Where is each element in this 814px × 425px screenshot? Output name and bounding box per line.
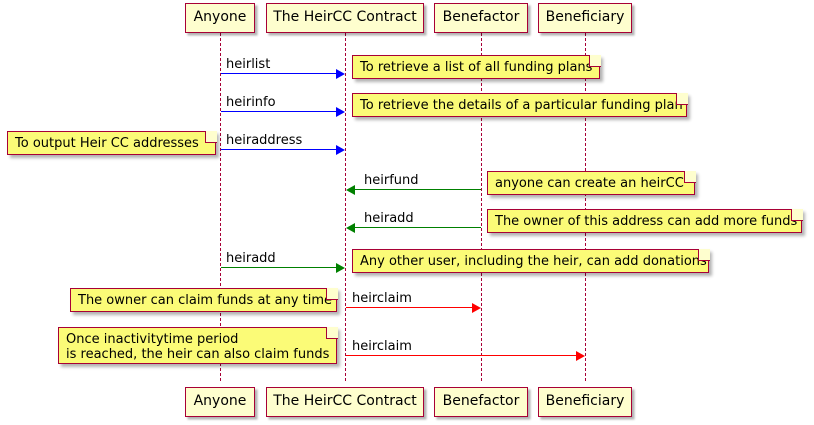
message-arrowhead-heirclaim-beneficiary (576, 351, 585, 361)
message-line-heirfund (355, 189, 481, 190)
message-arrowhead-heirfund (346, 185, 355, 195)
message-label-heiradd-anyone: heiradd (226, 251, 276, 266)
note-create-heircc: anyone can create an heirCC (487, 171, 695, 195)
message-label-heirclaim-benefactor: heirclaim (352, 291, 412, 306)
participant-beneficiary-bottom[interactable]: Beneficiary (538, 387, 632, 417)
message-arrowhead-heiradd-benefactor (346, 223, 355, 233)
note-fold-icon (589, 55, 601, 67)
note-funding-plans: To retrieve a list of all funding plans (352, 55, 600, 79)
message-line-heiradd-anyone (221, 267, 336, 268)
note-heir-claim: Once inactivitytime period is reached, t… (58, 327, 337, 364)
note-fold-icon (326, 288, 338, 300)
participant-anyone-top[interactable]: Anyone (185, 3, 255, 33)
participant-benefactor-top[interactable]: Benefactor (434, 3, 528, 33)
message-label-heirinfo: heirinfo (226, 95, 276, 110)
participant-contract-top[interactable]: The HeirCC Contract (266, 3, 424, 33)
message-label-heiraddress: heiraddress (226, 133, 302, 148)
message-line-heirclaim-beneficiary (346, 355, 576, 356)
message-arrowhead-heiradd-anyone (336, 263, 345, 273)
note-add-donations: Any other user, including the heir, can … (352, 249, 709, 273)
note-fold-icon (684, 171, 696, 183)
message-arrowhead-heiraddress (336, 145, 345, 155)
message-arrowhead-heirlist (336, 69, 345, 79)
participant-contract-bottom[interactable]: The HeirCC Contract (266, 387, 424, 417)
message-label-heirfund: heirfund (364, 173, 419, 188)
note-plan-details: To retrieve the details of a particular … (352, 93, 687, 117)
note-owner-claim: The owner can claim funds at any time (70, 288, 337, 312)
note-fold-icon (698, 249, 710, 261)
note-add-more-funds: The owner of this address can add more f… (487, 209, 802, 233)
lifeline-contract (345, 33, 346, 381)
participant-anyone-bottom[interactable]: Anyone (185, 387, 255, 417)
sequence-diagram-canvas: Anyone The HeirCC Contract Benefactor Be… (0, 0, 814, 425)
participant-benefactor-bottom[interactable]: Benefactor (434, 387, 528, 417)
message-arrowhead-heirinfo (336, 107, 345, 117)
message-line-heiraddress (221, 149, 336, 150)
message-line-heirlist (221, 73, 336, 74)
note-fold-icon (205, 131, 217, 143)
participant-beneficiary-top[interactable]: Beneficiary (538, 3, 632, 33)
lifeline-benefactor (481, 33, 482, 381)
message-line-heiradd-benefactor (355, 227, 481, 228)
note-fold-icon (791, 209, 803, 221)
message-label-heirclaim-beneficiary: heirclaim (352, 339, 412, 354)
note-fold-icon (326, 327, 338, 339)
note-output-addresses: To output Heir CC addresses (7, 131, 216, 155)
lifeline-beneficiary (585, 33, 586, 381)
message-line-heirclaim-benefactor (346, 307, 472, 308)
note-fold-icon (676, 93, 688, 105)
message-arrowhead-heirclaim-benefactor (472, 303, 481, 313)
message-label-heirlist: heirlist (226, 57, 270, 72)
message-line-heirinfo (221, 111, 336, 112)
message-label-heiradd-benefactor: heiradd (364, 211, 414, 226)
